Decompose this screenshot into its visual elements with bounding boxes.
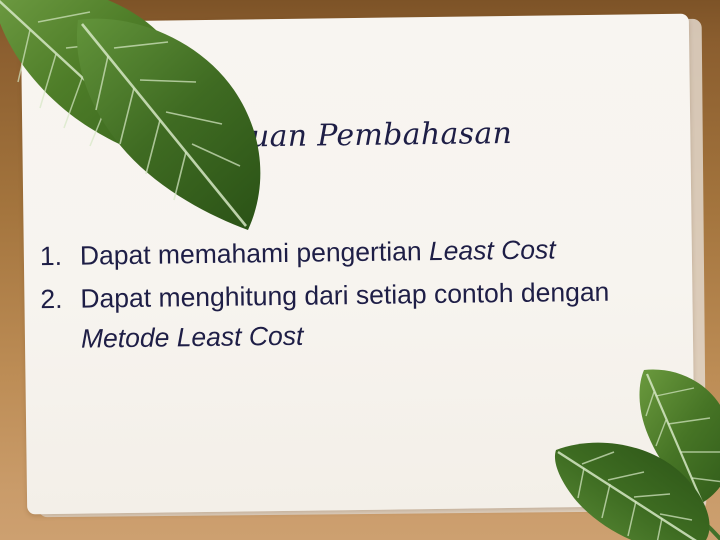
list-item-text: Dapat menghitung dari setiap contoh deng… <box>80 271 685 359</box>
list-item-text-plain: Dapat menghitung dari setiap contoh deng… <box>80 277 609 314</box>
list-item-marker: 1. <box>36 236 81 277</box>
list-item-text-emphasis: Metode Least Cost <box>81 321 304 354</box>
list-item-text: Dapat memahami pengertian Least Cost <box>80 228 684 276</box>
list-item-marker: 2. <box>36 279 81 320</box>
list-item: 1. Dapat memahami pengertian Least Cost <box>36 228 684 276</box>
list-item-text-plain: Dapat memahami pengertian <box>80 236 429 271</box>
slide-content: Tujuan Pembahasan 1. Dapat memahami peng… <box>21 14 695 515</box>
list-item-text-emphasis: Least Cost <box>429 234 556 266</box>
list-item: 2. Dapat menghitung dari setiap contoh d… <box>36 271 685 359</box>
presentation-slide: Tujuan Pembahasan 1. Dapat memahami peng… <box>0 0 720 540</box>
objectives-list: 1. Dapat memahami pengertian Least Cost … <box>36 228 686 362</box>
page-title: Tujuan Pembahasan <box>22 114 690 158</box>
